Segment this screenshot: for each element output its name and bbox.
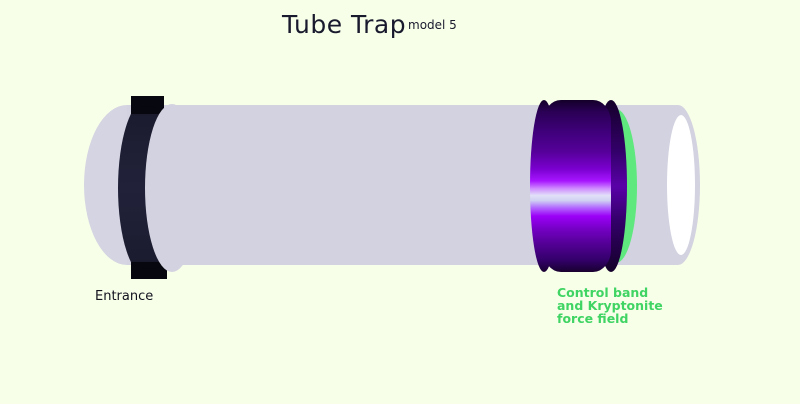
entrance-band-bore bbox=[145, 104, 199, 272]
tube-right-opening bbox=[667, 115, 695, 255]
entrance-label: Entrance bbox=[95, 289, 153, 304]
tube-trap-illustration: Tube Trap model 5 Entrance Control band … bbox=[0, 0, 800, 400]
tube-trap-diagram: Tube Trap model 5 Entrance Control band … bbox=[0, 0, 800, 400]
control-band-left-face bbox=[530, 100, 558, 272]
force-field-label-line3: force field bbox=[557, 311, 628, 326]
model-subtitle: model 5 bbox=[408, 18, 457, 32]
page-title: Tube Trap bbox=[281, 10, 406, 39]
entrance-band bbox=[118, 96, 199, 279]
